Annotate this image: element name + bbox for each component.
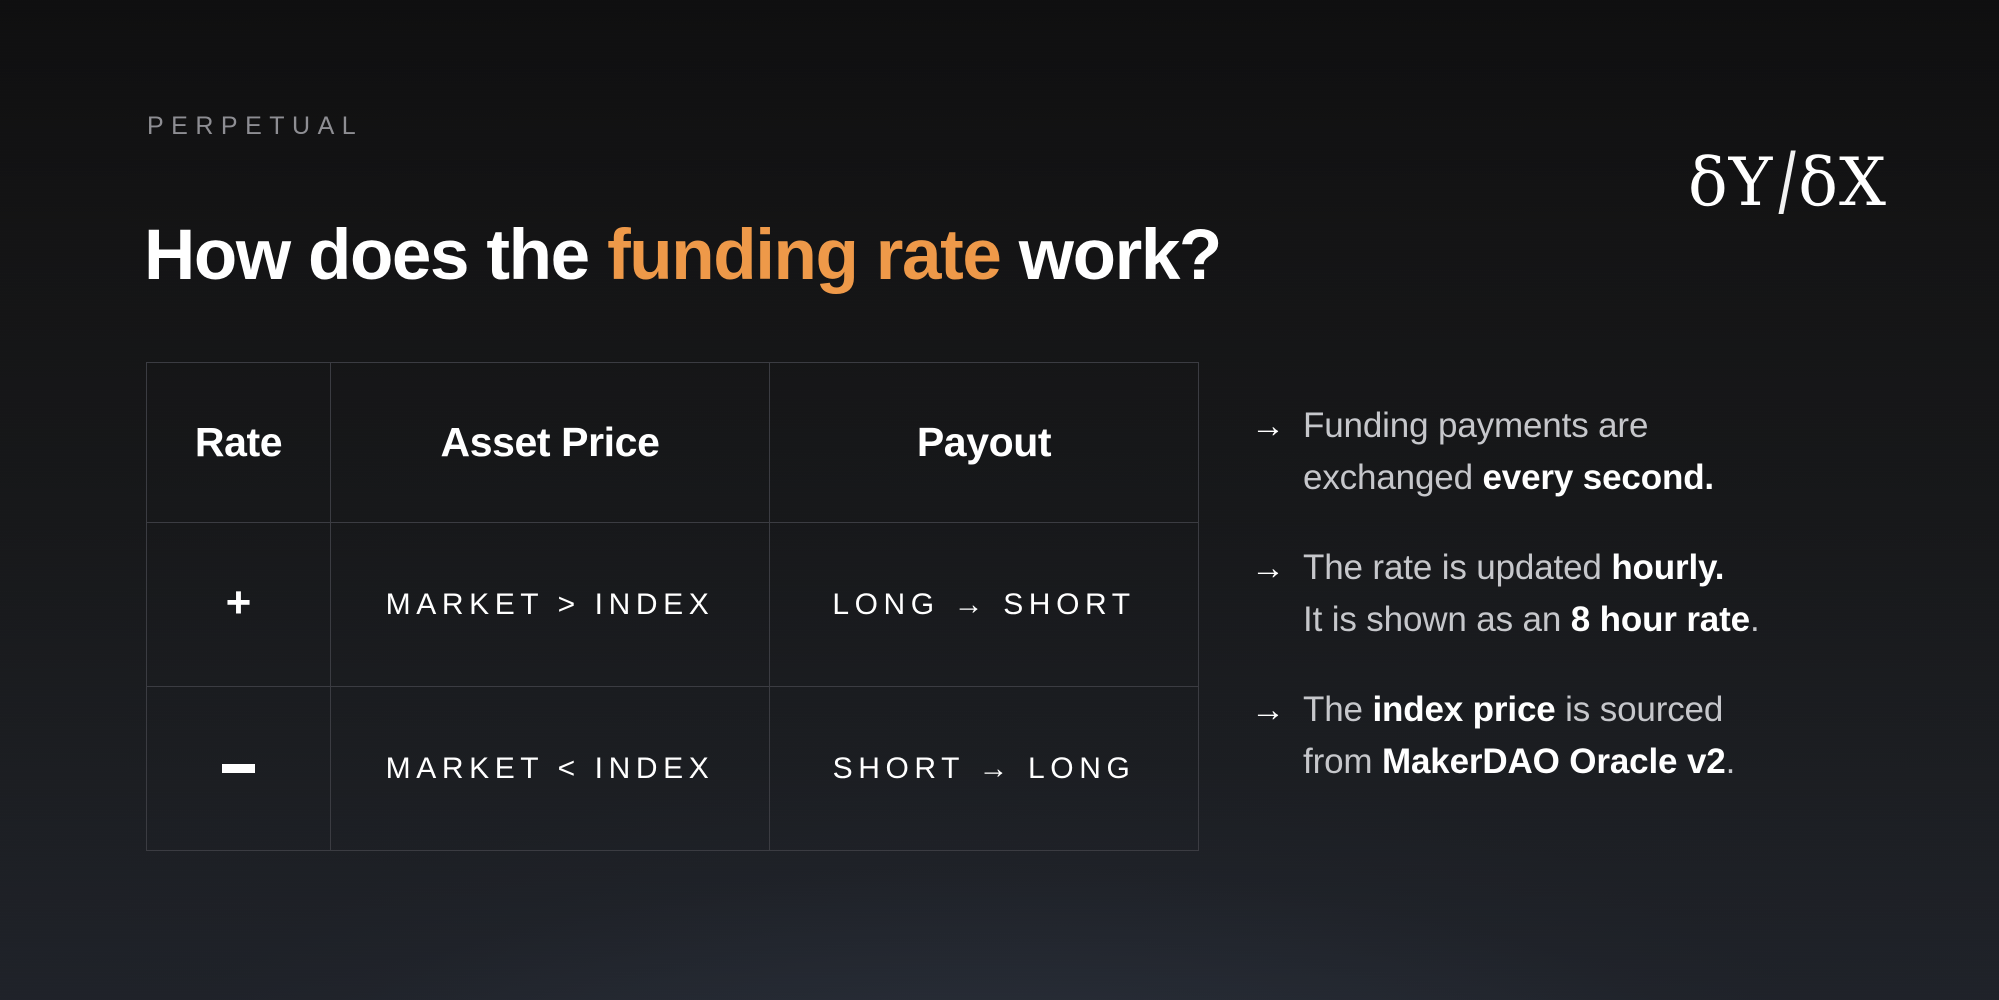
arrow-right-icon: → bbox=[1251, 542, 1303, 594]
list-item-line-2-plain: It is shown as an bbox=[1303, 600, 1571, 639]
logo-delta-y: δY bbox=[1688, 144, 1773, 221]
eyebrow-label: PERPETUAL bbox=[147, 114, 363, 139]
table-header-rate-label: Rate bbox=[195, 419, 282, 466]
table-row: + MARKET > INDEX LONG → SHORT bbox=[147, 522, 1198, 686]
list-item-line-2-tail: . bbox=[1750, 600, 1760, 639]
payout-direction-negative: SHORT → LONG bbox=[833, 752, 1136, 786]
table-header-payout-label: Payout bbox=[917, 419, 1051, 466]
list-item-line-2-emphasis: every second. bbox=[1482, 458, 1714, 497]
arrow-right-icon: → bbox=[1251, 400, 1303, 452]
slide-canvas: PERPETUAL How does the funding rate work… bbox=[0, 0, 1999, 1000]
page-title: How does the funding rate work? bbox=[144, 216, 1221, 296]
table-header-asset-price: Asset Price bbox=[330, 363, 769, 522]
list-item-line-1-plain: The rate is updated bbox=[1303, 548, 1611, 587]
list-item: → The index price is sourced from MakerD… bbox=[1251, 684, 1911, 788]
list-item-line-1-emphasis: hourly. bbox=[1611, 548, 1724, 587]
table-header-asset-price-label: Asset Price bbox=[441, 419, 660, 466]
table-header-rate: Rate bbox=[147, 363, 330, 522]
table-cell-rate-negative bbox=[147, 687, 330, 850]
list-item-text: Funding payments are exchanged every sec… bbox=[1303, 400, 1714, 504]
page-title-accent: funding rate bbox=[607, 216, 1000, 295]
funding-rate-table: Rate Asset Price Payout + MARKET > INDEX… bbox=[146, 362, 1199, 851]
key-facts-list: → Funding payments are exchanged every s… bbox=[1251, 400, 1911, 788]
table-cell-asset-price-negative: MARKET < INDEX bbox=[330, 687, 769, 850]
table-cell-payout-positive: LONG → SHORT bbox=[769, 523, 1198, 686]
plus-icon: + bbox=[226, 581, 252, 625]
list-item-text: The index price is sourced from MakerDAO… bbox=[1303, 684, 1735, 788]
list-item-line-2-emphasis: MakerDAO Oracle v2 bbox=[1382, 742, 1726, 781]
table-cell-asset-price-positive: MARKET > INDEX bbox=[330, 523, 769, 686]
list-item-line-2-plain: exchanged bbox=[1303, 458, 1482, 497]
arrow-right-icon: → bbox=[1251, 684, 1303, 736]
page-title-part-1: How does the bbox=[144, 216, 607, 295]
list-item: → Funding payments are exchanged every s… bbox=[1251, 400, 1911, 504]
minus-icon bbox=[222, 764, 255, 773]
table-header-row: Rate Asset Price Payout bbox=[147, 363, 1198, 522]
table-cell-rate-positive: + bbox=[147, 523, 330, 686]
list-item-line-1-plain: The bbox=[1303, 690, 1372, 729]
list-item-line-1-tail: is sourced bbox=[1556, 690, 1724, 729]
list-item-line-2-tail: . bbox=[1726, 742, 1736, 781]
table-cell-payout-negative: SHORT → LONG bbox=[769, 687, 1198, 850]
page-title-part-2: work? bbox=[1000, 216, 1220, 295]
list-item-line-2-plain: from bbox=[1303, 742, 1382, 781]
asset-price-condition-negative: MARKET < INDEX bbox=[386, 752, 715, 786]
list-item-text: The rate is updated hourly. It is shown … bbox=[1303, 542, 1760, 646]
logo-delta-x: δX bbox=[1798, 144, 1887, 221]
list-item: → The rate is updated hourly. It is show… bbox=[1251, 542, 1911, 646]
list-item-line-2-emphasis: 8 hour rate bbox=[1571, 600, 1750, 639]
dydx-logo: δY/δX bbox=[1688, 133, 1887, 219]
asset-price-condition-positive: MARKET > INDEX bbox=[386, 588, 715, 622]
table-header-payout: Payout bbox=[769, 363, 1198, 522]
list-item-line-1-emphasis: index price bbox=[1372, 690, 1555, 729]
logo-slash-icon: / bbox=[1779, 141, 1797, 227]
payout-direction-positive: LONG → SHORT bbox=[832, 588, 1135, 622]
table-row: MARKET < INDEX SHORT → LONG bbox=[147, 686, 1198, 850]
list-item-line-1: Funding payments are bbox=[1303, 406, 1648, 445]
